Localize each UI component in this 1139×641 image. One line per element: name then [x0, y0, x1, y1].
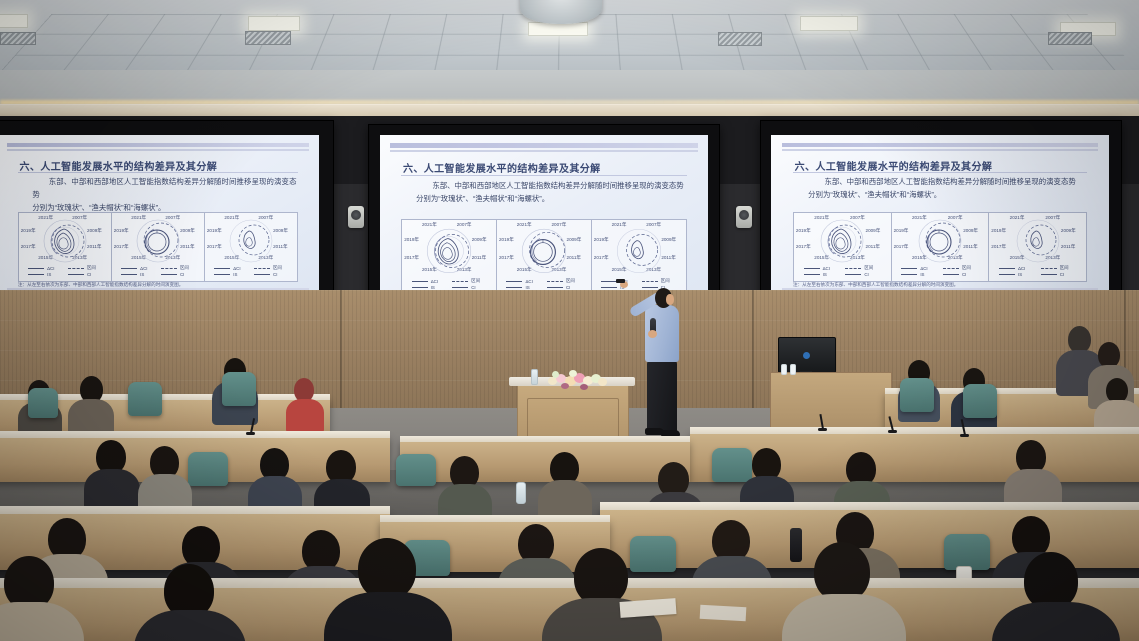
paper-document	[700, 605, 747, 621]
ceiling-air-vent	[1048, 32, 1092, 45]
year-label: 2017年	[21, 244, 36, 250]
legend-item-ci: CI	[1041, 272, 1077, 277]
year-label: 2019年	[21, 228, 36, 234]
flower	[552, 371, 559, 378]
slide-body: 东部、中部和西部地区人工智能指数结构差异分解随时间推移呈现的演变态势 分别为“玫…	[32, 176, 296, 215]
chart-legend-east: ΔCI 区间 IS CI	[412, 278, 487, 290]
legend-item-delta-ci: ΔCI	[506, 278, 541, 284]
left-screen-surface[interactable]: 六、人工智能发展水平的结构差异及其分解 东部、中部和西部地区人工智能指数结构差异…	[0, 135, 319, 305]
ceiling-light-panel	[0, 14, 28, 28]
legend-item-interval: 区间	[254, 265, 288, 271]
polar-chart-east	[814, 217, 870, 267]
slide-body: 东部、中部和西部地区人工智能指数结构差异分解随时间推移呈现的演变态势 分别为“玫…	[416, 180, 685, 206]
lecture-hall-photo: 六、人工智能发展水平的结构差异及其分解 东部、中部和西部地区人工智能指数结构差异…	[0, 0, 1139, 641]
legend-item-ci: CI	[68, 272, 102, 277]
year-label: 2017年	[404, 255, 419, 261]
year-label: 2017年	[114, 244, 129, 250]
chart-cell-east: 2021年 2007年 2019年 2009年 2017年 2011年 2015…	[794, 213, 892, 281]
slide-left: 六、人工智能发展水平的结构差异及其分解 东部、中部和西部地区人工智能指数结构差异…	[0, 135, 319, 305]
flower	[569, 370, 577, 377]
chair	[396, 454, 436, 486]
desk-surface	[400, 436, 690, 442]
year-label: 2017年	[894, 244, 909, 250]
chart-cell-west: 2021年 2007年 2019年 2009年 2017年 2011年 2015…	[592, 220, 686, 294]
year-label: 2017年	[991, 244, 1006, 250]
legend-item-interval: 区间	[452, 278, 487, 284]
slide-right: 六、人工智能发展水平的结构差异及其分解 东部、中部和西部地区人工智能指数结构差异…	[771, 135, 1109, 305]
chart-cell-east: 2021年 2007年 2019年 2009年 2017年 2011年 2015…	[19, 213, 112, 281]
chair	[222, 372, 256, 406]
desk-surface	[600, 502, 1139, 510]
chart-cell-west: 2021年 2007年 2019年 2009年 2017年 2011年 2015…	[205, 213, 297, 281]
floral-arrangement	[546, 370, 608, 390]
podium-front-panel	[527, 398, 619, 438]
legend-item-delta-ci: ΔCI	[999, 265, 1035, 271]
slide-top-bar	[390, 143, 697, 148]
chair	[900, 378, 934, 412]
slide-top-bar-thin	[390, 150, 697, 152]
legend-item-delta-ci: ΔCI	[412, 278, 447, 284]
water-bottle	[516, 482, 526, 504]
laser-pointer	[616, 279, 625, 283]
legend-item-delta-ci: ΔCI	[901, 265, 937, 271]
year-label: 2019年	[404, 237, 419, 243]
legend-item-ci: CI	[845, 272, 881, 277]
legend-item-delta-ci: ΔCI	[804, 265, 840, 271]
wall-speaker	[348, 206, 364, 228]
ceiling-air-vent	[0, 32, 36, 45]
polar-chart-east	[420, 226, 478, 278]
legend-item-ci: CI	[943, 272, 979, 277]
attendee-head	[358, 538, 416, 600]
year-label: 2017年	[594, 255, 609, 261]
desk-surface	[690, 427, 1139, 434]
wall-speaker	[736, 206, 752, 228]
chair	[630, 536, 676, 572]
flower	[598, 378, 607, 386]
legend-item-interval: 区间	[547, 278, 582, 284]
slide-title: 六、人工智能发展水平的结构差异及其分解	[403, 160, 601, 175]
slide-body-line1: 东部、中部和西部地区人工智能指数结构差异分解随时间推移呈现的演变态势	[32, 177, 296, 199]
year-label: 2017年	[499, 255, 514, 261]
chart-cell-west: 2021年 2007年 2019年 2009年 2017年 2011年 2015…	[989, 213, 1086, 281]
polar-chart-central	[130, 217, 186, 267]
year-label: 2017年	[207, 244, 222, 250]
chart-cell-central: 2021年 2007年 2019年 2009年 2017年 2011年 2015…	[112, 213, 205, 281]
legend-item-interval: 区间	[845, 265, 881, 271]
slide-body-line1: 东部、中部和西部地区人工智能指数结构差异分解随时间推移呈现的演变态势	[432, 181, 683, 190]
chair	[963, 384, 997, 418]
year-label: 2019年	[991, 228, 1006, 234]
polar-chart-east	[37, 217, 93, 267]
wall-panel-seam	[752, 290, 754, 410]
slide-body: 东部、中部和西部地区人工智能指数结构差异分解随时间推移呈现的演变态势 分别为“玫…	[808, 176, 1085, 202]
year-label: 2019年	[499, 237, 514, 243]
chair	[188, 452, 228, 486]
attendee-head	[814, 542, 870, 602]
legend-item-interval: 区间	[943, 265, 979, 271]
presenter-legs	[647, 360, 677, 432]
slide-title-rule	[18, 172, 298, 173]
ceiling-air-vent	[718, 32, 762, 46]
ceiling-air-vent	[245, 31, 291, 45]
chart-legend-west: ΔCI 区间 IS CI	[999, 265, 1076, 277]
legend-item-is: IS	[901, 272, 937, 277]
right-screen-housing: 六、人工智能发展水平的结构差异及其分解 东部、中部和西部地区人工智能指数结构差异…	[760, 120, 1122, 318]
figure-panel: 2021年 2007年 2019年 2009年 2017年 2011年 2015…	[18, 212, 298, 282]
slide-body-line2: 分别为“玫瑰状”、“渔夫帽状”和“海螺状”。	[32, 203, 165, 212]
chart-legend-central: ΔCI 区间 IS CI	[506, 278, 581, 290]
polar-chart-central	[912, 217, 968, 267]
legend-item-interval: 区间	[1041, 265, 1077, 271]
legend-item-interval: 区间	[161, 265, 195, 271]
legend-item-ci: CI	[161, 272, 195, 277]
attendee-body	[286, 399, 324, 433]
figure-panel: 2021年 2007年 2019年 2009年 2017年 2011年 2015…	[793, 212, 1087, 282]
water-bottle	[531, 369, 538, 385]
water-bottle	[790, 364, 796, 375]
legend-item-is: IS	[28, 272, 62, 277]
desk-surface	[0, 506, 390, 514]
chair	[712, 448, 752, 482]
chart-legend-west: ΔCI 区间 IS CI	[214, 265, 288, 277]
polar-chart-central	[515, 226, 573, 278]
year-label: 2019年	[796, 228, 811, 234]
ceiling-light-panel	[248, 16, 300, 31]
slide-top-bar-thin	[7, 149, 308, 151]
flower	[561, 383, 569, 389]
chair	[28, 388, 58, 418]
left-screen-housing: 六、人工智能发展水平的结构差异及其分解 东部、中部和西部地区人工智能指数结构差异…	[0, 120, 334, 318]
presenter-face	[666, 294, 674, 305]
polar-chart-west	[1010, 217, 1066, 267]
water-bottle	[781, 364, 787, 375]
legend-item-is: IS	[121, 272, 155, 277]
year-label: 2017年	[796, 244, 811, 250]
year-label: 2019年	[114, 228, 129, 234]
ceiling-light-panel	[800, 16, 858, 31]
chart-legend-east: ΔCI 区间 IS CI	[804, 265, 881, 277]
thermos	[790, 528, 802, 562]
legend-item-is: IS	[214, 272, 248, 277]
ceiling-light-panel	[528, 22, 588, 36]
presenter-hand	[648, 330, 657, 338]
desk-row	[400, 440, 690, 482]
control-desk	[770, 372, 892, 434]
flower	[580, 384, 588, 390]
chart-cell-central: 2021年 2007年 2019年 2009年 2017年 2011年 2015…	[892, 213, 990, 281]
polar-chart-west	[610, 226, 668, 278]
desk-surface	[380, 515, 610, 522]
legend-item-delta-ci: ΔCI	[28, 265, 62, 271]
chair	[944, 534, 990, 570]
attendee-head	[1068, 326, 1091, 353]
year-label: 2019年	[594, 237, 609, 243]
year-label: 2019年	[207, 228, 222, 234]
legend-item-interval: 区间	[68, 265, 102, 271]
slide-body-line1: 东部、中部和西部地区人工智能指数结构差异分解随时间推移呈现的演变态势	[824, 177, 1075, 186]
chart-cell-central: 2021年 2007年 2019年 2009年 2017年 2011年 2015…	[497, 220, 592, 294]
legend-item-ci: CI	[254, 272, 288, 277]
chart-legend-east: ΔCI 区间 IS CI	[28, 265, 102, 277]
chair	[128, 382, 162, 416]
legend-item-delta-ci: ΔCI	[214, 265, 248, 271]
legend-item-is: IS	[999, 272, 1035, 277]
chart-legend-central: ΔCI 区间 IS CI	[121, 265, 195, 277]
legend-item-interval: 区间	[642, 278, 677, 284]
slide-title-rule	[793, 172, 1087, 173]
legend-item-delta-ci: ΔCI	[121, 265, 155, 271]
right-screen-surface[interactable]: 六、人工智能发展水平的结构差异及其分解 东部、中部和西部地区人工智能指数结构差异…	[771, 135, 1109, 305]
desk-surface	[0, 431, 390, 438]
year-label: 2019年	[894, 228, 909, 234]
chart-cell-east: 2021年 2007年 2019年 2009年 2017年 2011年 2015…	[402, 220, 497, 294]
slide-body-line2: 分别为“玫瑰状”、“渔夫帽状”和“海螺状”。	[416, 194, 549, 203]
chart-legend-central: ΔCI 区间 IS CI	[901, 265, 978, 277]
wall-panel-seam	[340, 290, 342, 410]
legend-item-is: IS	[804, 272, 840, 277]
slide-top-bar	[782, 143, 1098, 147]
slide-body-line2: 分别为“玫瑰状”、“渔夫帽状”和“海螺状”。	[808, 190, 941, 199]
slide-top-bar	[7, 143, 308, 147]
slide-top-bar-thin	[782, 149, 1098, 151]
figure-panel: 2021年 2007年 2019年 2009年 2017年 2011年 2015…	[401, 219, 686, 295]
slide-title-rule	[401, 175, 686, 176]
polar-chart-west	[223, 217, 279, 267]
